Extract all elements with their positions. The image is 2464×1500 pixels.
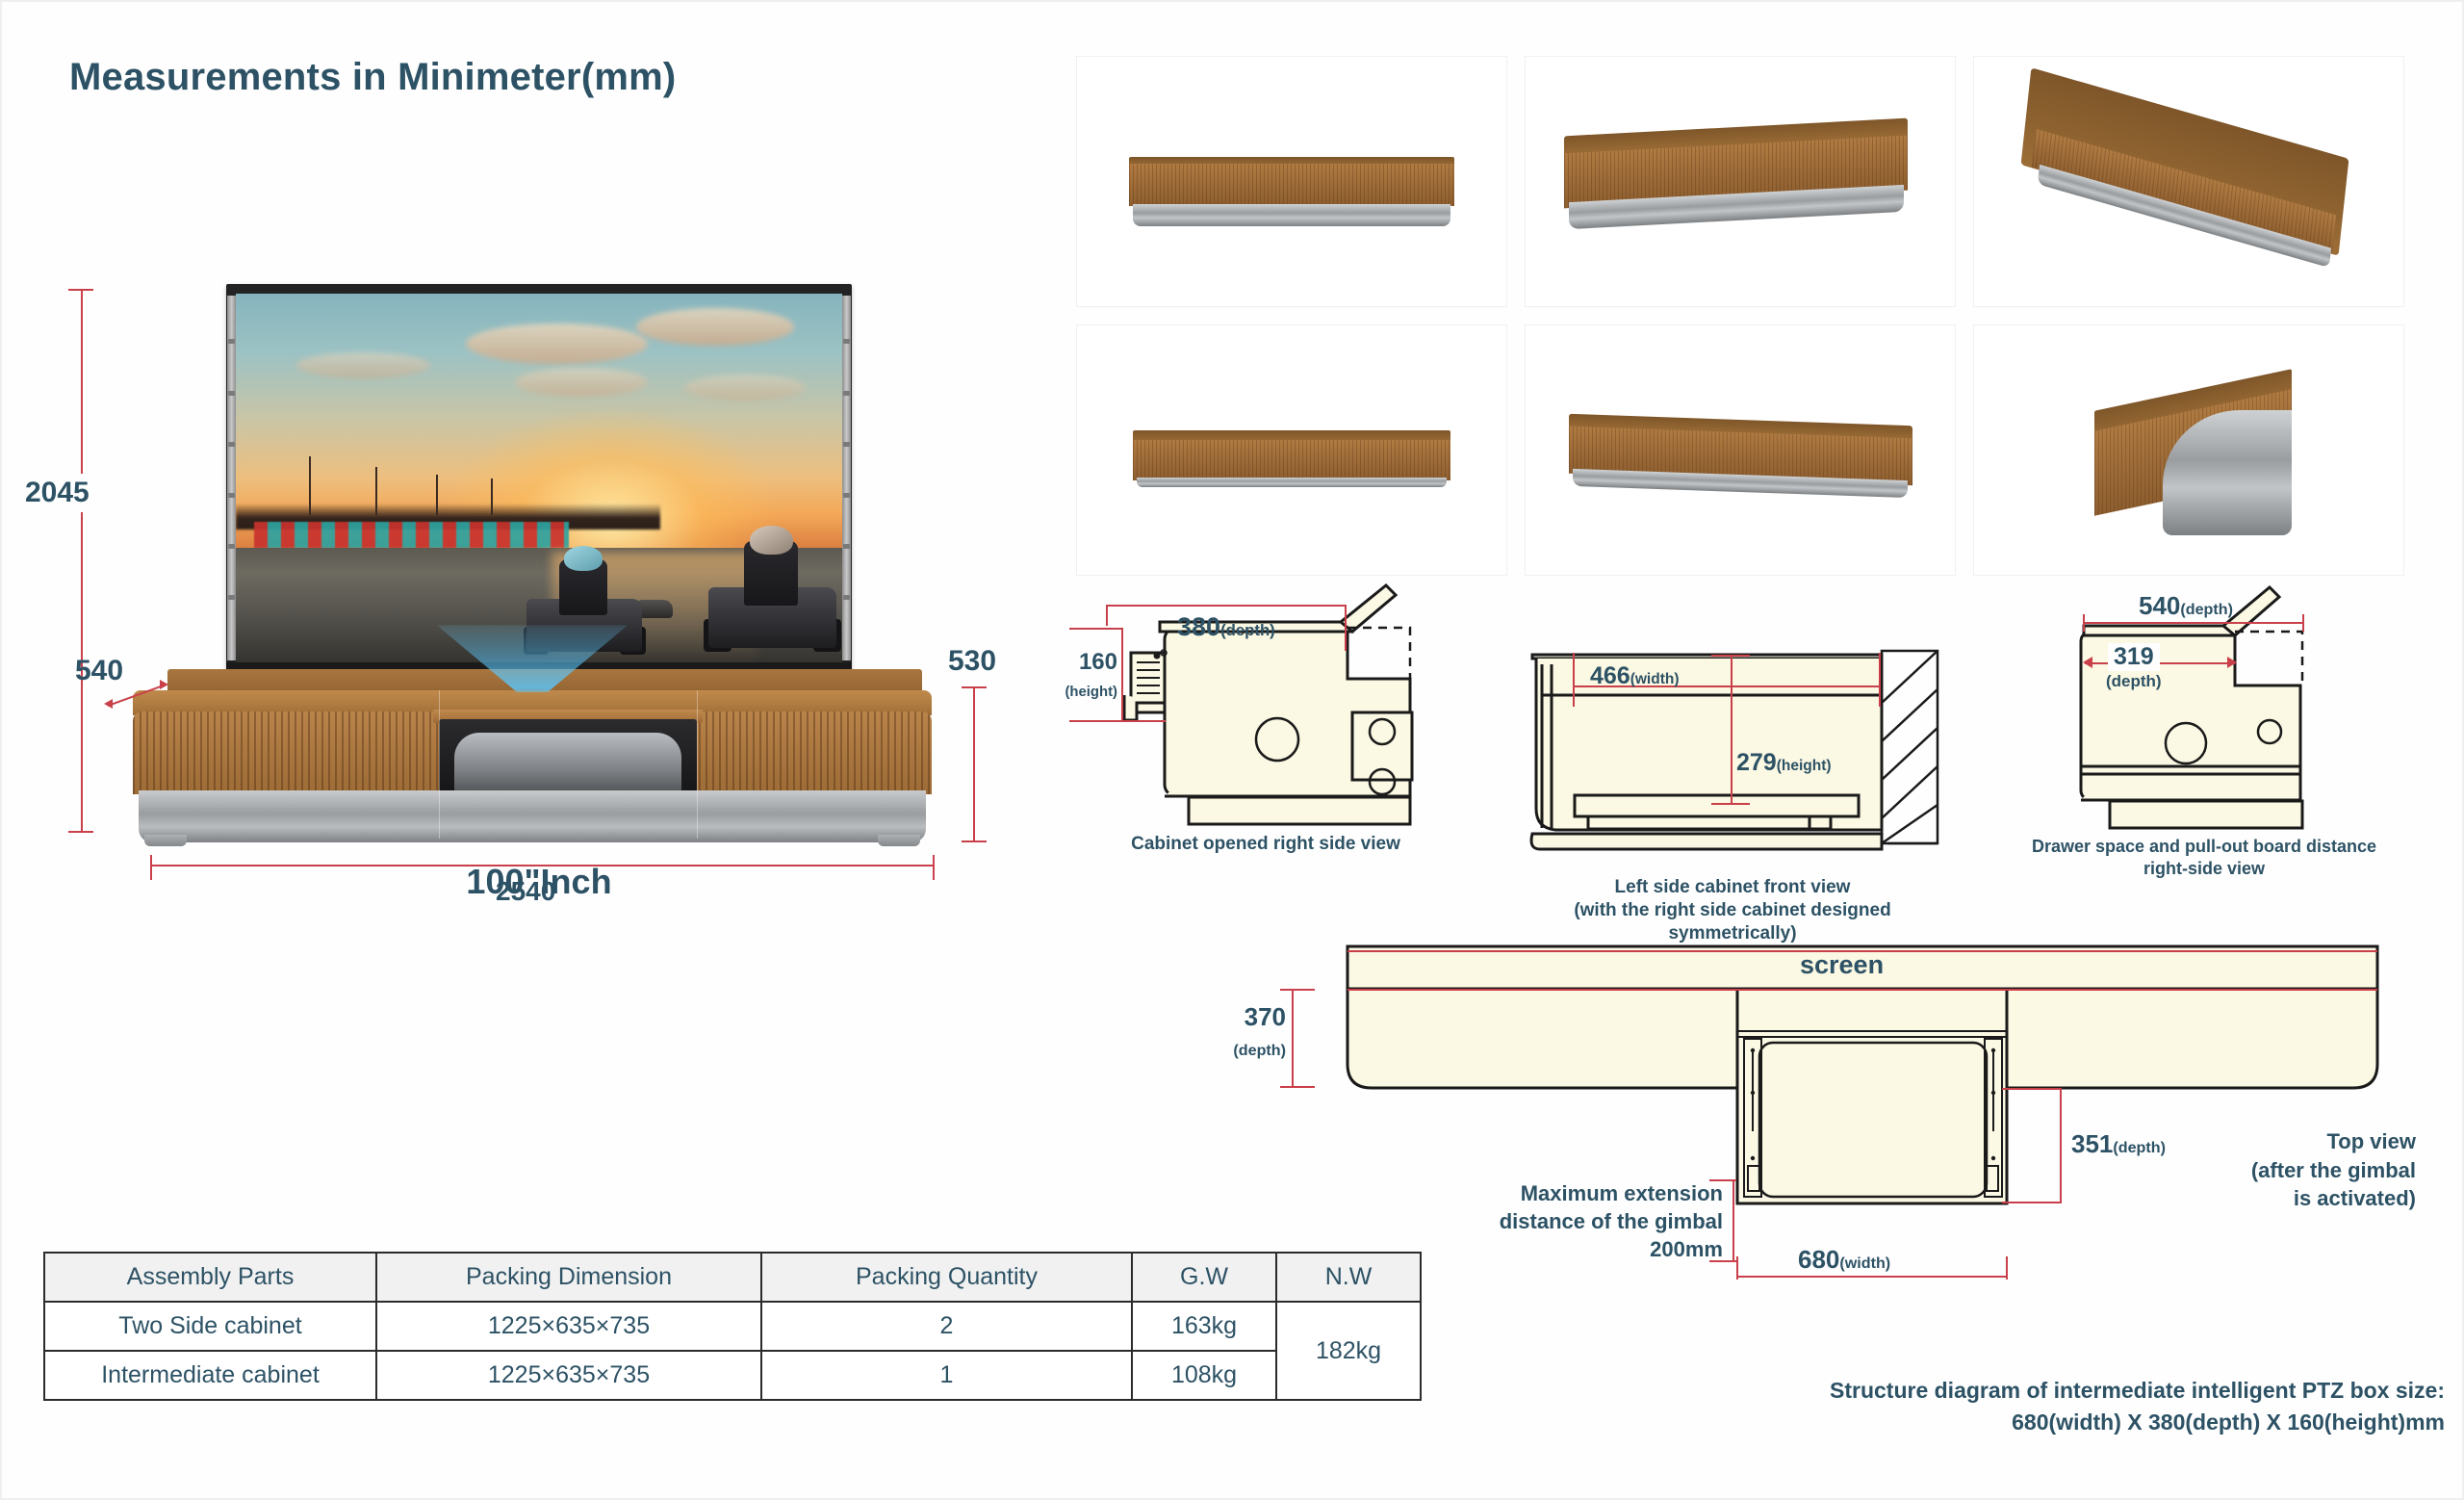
dimension-label-380: 380(depth) [1177, 612, 1275, 642]
drawing-caption-2: Left side cabinet front view(with the ri… [1511, 876, 1954, 944]
hero-product-diagram: 2045 540 530 2540 100"Inch [58, 260, 1020, 934]
cell-dimension: 1225×635×735 [376, 1351, 761, 1400]
dimension-line-height-2045 [81, 289, 83, 833]
screen-content-image [236, 294, 842, 662]
table-row: Two Side cabinet 1225×635×735 2 163kg 18… [44, 1302, 1421, 1351]
table-header-row: Assembly Parts Packing Dimension Packing… [44, 1253, 1421, 1302]
top-view-screen-label: screen [1800, 950, 1884, 980]
media-cabinet [133, 669, 932, 842]
dimension-label-530: 530 [948, 645, 996, 678]
dimension-label-2045: 2045 [19, 474, 95, 512]
cell-gross-weight: 108kg [1132, 1351, 1276, 1400]
column-header-gross-weight: G.W [1132, 1253, 1276, 1302]
product-photo-angled-front-view [1525, 56, 1956, 307]
product-photo-grid [1076, 56, 2404, 576]
dimension-label-680: 680(width) [1798, 1245, 1890, 1275]
top-view-caption: Top view (after the gimbal is activated) [2175, 1127, 2416, 1213]
screen-right-rail [842, 296, 851, 660]
cell-net-weight-total: 182kg [1276, 1302, 1421, 1400]
cabinet-chrome-base [139, 790, 926, 842]
cell-dimension: 1225×635×735 [376, 1302, 761, 1351]
projector-unit [454, 733, 681, 796]
table-row: Intermediate cabinet 1225×635×735 1 108k… [44, 1351, 1421, 1400]
cell-part-name: Two Side cabinet [44, 1302, 376, 1351]
cell-gross-weight: 163kg [1132, 1302, 1276, 1351]
cell-part-name: Intermediate cabinet [44, 1351, 376, 1400]
column-header-net-weight: N.W [1276, 1253, 1421, 1302]
product-photo-end-close-up-view [1973, 324, 2404, 576]
product-photo-low-angle-view [1525, 324, 1956, 576]
packing-spec-table: Assembly Parts Packing Dimension Packing… [43, 1252, 1422, 1401]
screen-left-rail [227, 296, 236, 660]
dimension-label-540: 540 [75, 655, 123, 687]
drawing-caption-1: Cabinet opened right side view [1064, 833, 1468, 856]
drawing-cabinet-opened-right-side: 380(depth) 160(height) Cabinet opened ri… [1064, 578, 1468, 924]
product-photo-top-perspective-view [1973, 56, 2404, 307]
dimension-line-height-530 [973, 686, 975, 842]
drawing-left-side-cabinet-front: 466(width) 279(height) Left side cabinet… [1511, 645, 1954, 924]
column-header-assembly-parts: Assembly Parts [44, 1253, 376, 1302]
product-photo-straight-front-view [1076, 324, 1507, 576]
screen-size-label: 100"Inch [58, 862, 1020, 902]
product-photo-front-view [1076, 56, 1507, 307]
dimension-label-540-depth: 540(depth) [2139, 591, 2233, 621]
dimension-label-466: 466(width) [1590, 662, 1680, 690]
dimension-label-160: 160(height) [1017, 649, 1117, 703]
drawing-drawer-space-pull-out: 540(depth) 319 (depth) Drawer space and … [1992, 578, 2416, 924]
ptz-box-size-caption: Structure diagram of intermediate intell… [1540, 1375, 2445, 1439]
dimension-label-370: 370(depth) [1213, 1002, 1286, 1062]
dimension-unit-319: (depth) [2106, 672, 2162, 691]
drawing-top-view-gimbal: screen 370(depth) Maximum extension dist… [1328, 939, 2416, 1324]
column-header-packing-dimension: Packing Dimension [376, 1253, 761, 1302]
dimension-label-319: 319 [2108, 643, 2160, 671]
cell-quantity: 1 [761, 1351, 1132, 1400]
page-title: Measurements in Minimeter(mm) [69, 56, 676, 99]
cell-quantity: 2 [761, 1302, 1132, 1351]
column-header-packing-quantity: Packing Quantity [761, 1253, 1132, 1302]
projection-screen [226, 284, 852, 684]
dimension-label-351: 351(depth) [2071, 1129, 2166, 1159]
dimension-label-279: 279(height) [1736, 749, 1832, 777]
drawing-caption-3: Drawer space and pull-out board distance… [1992, 836, 2416, 879]
